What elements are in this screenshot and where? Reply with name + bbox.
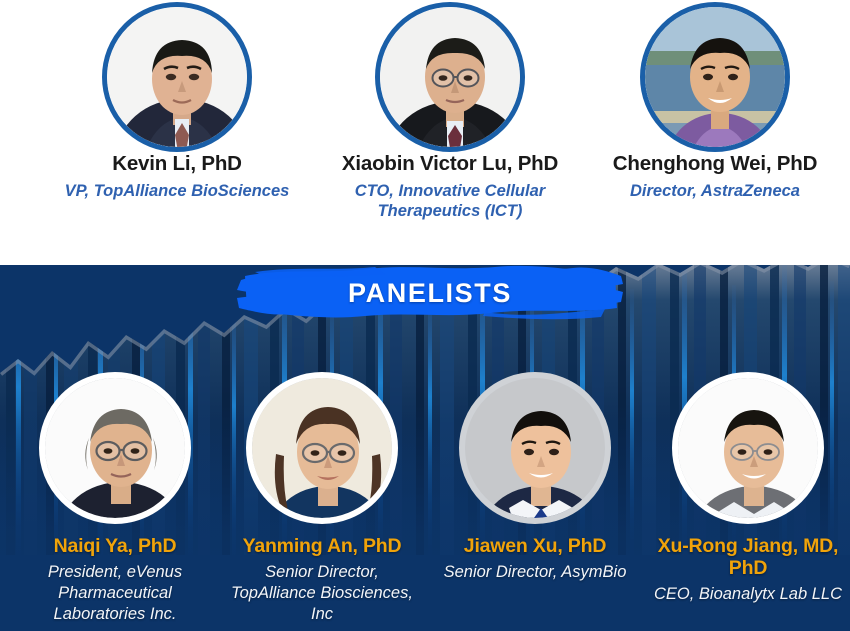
portrait-xiaobin-victor-lu (380, 7, 520, 147)
panelist-card-2[interactable]: Yanming An, PhD Senior Director, TopAlli… (222, 372, 422, 625)
speaker-3-name: Chenghong Wei, PhD (585, 152, 845, 176)
speakers-section: Kevin Li, PhD VP, TopAlliance BioScience… (0, 0, 850, 265)
panelist-2-name: Yanming An, PhD (222, 536, 422, 558)
speaker-3-avatar (640, 2, 790, 152)
panelist-4-avatar (672, 372, 824, 524)
portrait-xu-rong-jiang (678, 378, 818, 518)
panelist-card-3[interactable]: Jiawen Xu, PhD Senior Director, AsymBio (440, 372, 630, 583)
speaker-card-3[interactable]: Chenghong Wei, PhD Director, AstraZeneca (585, 0, 845, 201)
portrait-yanming-an (252, 378, 392, 518)
portrait-kevin-li-art (107, 7, 247, 147)
speaker-card-1[interactable]: Kevin Li, PhD VP, TopAlliance BioScience… (22, 0, 332, 201)
portrait-jiawen-xu (465, 378, 605, 518)
panelist-4-title: CEO, Bioanalytx Lab LLC (648, 584, 848, 605)
panelist-2-avatar (246, 372, 398, 524)
portrait-xu-rong-jiang-art (678, 378, 818, 518)
portrait-naiqi-ya-art (45, 378, 185, 518)
portrait-jiawen-xu-art (465, 378, 605, 518)
portrait-xiaobin-victor-lu-art (380, 7, 520, 147)
panelist-3-name: Jiawen Xu, PhD (440, 536, 630, 558)
panelist-3-title: Senior Director, AsymBio (440, 562, 630, 583)
speaker-2-title: CTO, Innovative Cellular Therapeutics (I… (305, 181, 595, 221)
portrait-kevin-li (107, 7, 247, 147)
panelist-1-name: Naiqi Ya, PhD (10, 536, 220, 558)
speaker-2-name: Xiaobin Victor Lu, PhD (305, 152, 595, 176)
panelist-4-name: Xu-Rong Jiang, MD, PhD (648, 536, 848, 580)
panelist-1-avatar (39, 372, 191, 524)
panelist-1-title: President, eVenus Pharmaceutical Laborat… (10, 562, 220, 625)
speaker-1-name: Kevin Li, PhD (22, 152, 332, 176)
panelist-2-title: Senior Director, TopAlliance Biosciences… (222, 562, 422, 625)
speaker-card-2[interactable]: Xiaobin Victor Lu, PhD CTO, Innovative C… (305, 0, 595, 221)
speaker-panel-graphic: Kevin Li, PhD VP, TopAlliance BioScience… (0, 0, 850, 631)
speaker-1-avatar (102, 2, 252, 152)
panelists-banner: PANELISTS (235, 262, 625, 324)
portrait-chenghong-wei (645, 7, 785, 147)
panelists-banner-label: PANELISTS (235, 262, 625, 324)
portrait-yanming-an-art (252, 378, 392, 518)
panelist-card-4[interactable]: Xu-Rong Jiang, MD, PhD CEO, Bioanalytx L… (648, 372, 848, 605)
speaker-1-title: VP, TopAlliance BioSciences (22, 181, 332, 201)
panelist-card-1[interactable]: Naiqi Ya, PhD President, eVenus Pharmace… (10, 372, 220, 625)
panelist-3-avatar (459, 372, 611, 524)
portrait-naiqi-ya (45, 378, 185, 518)
speaker-3-title: Director, AstraZeneca (585, 181, 845, 201)
speaker-2-avatar (375, 2, 525, 152)
portrait-chenghong-wei-art (645, 7, 785, 147)
